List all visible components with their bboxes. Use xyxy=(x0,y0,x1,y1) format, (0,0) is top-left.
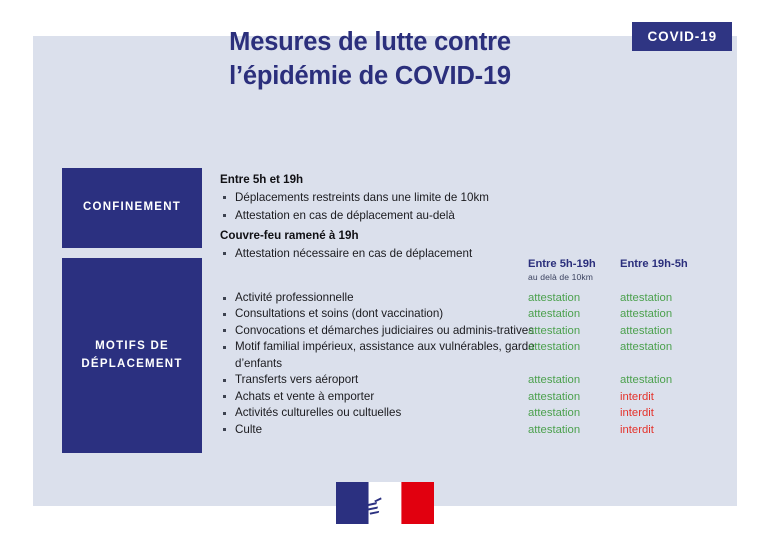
table-row: Culteattestationinterdit xyxy=(220,422,710,438)
motif-label: Motif familial impérieux, assistance aux… xyxy=(220,339,535,372)
table-row: Transferts vers aéroportattestationattes… xyxy=(220,372,710,388)
column-header-nighttime: Entre 19h-5h xyxy=(620,258,688,270)
status-badge-nighttime: attestation xyxy=(620,306,672,322)
motifs-column-headers: Entre 5h-19h au delà de 10km Entre 19h-5… xyxy=(220,258,710,290)
status-badge-daytime: attestation xyxy=(528,290,580,306)
table-row: Convocations et démarches judiciaires ou… xyxy=(220,323,710,339)
list-item: Attestation en cas de déplacement au-del… xyxy=(220,208,550,225)
table-row: Motif familial impérieux, assistance aux… xyxy=(220,339,710,372)
section-label-confinement-text: CONFINEMENT xyxy=(83,199,181,216)
table-row: Achats et vente à emporterattestationint… xyxy=(220,389,710,405)
motif-label: Activités culturelles ou cultuelles xyxy=(220,405,535,421)
status-badge-daytime: attestation xyxy=(528,323,580,339)
status-badge-nighttime: attestation xyxy=(620,372,672,388)
motif-label: Culte xyxy=(220,422,535,438)
section-label-confinement: CONFINEMENT xyxy=(62,168,202,248)
status-badge-daytime: attestation xyxy=(528,339,580,355)
infographic-root: Mesures de lutte contre l’épidémie de CO… xyxy=(0,0,770,544)
status-badge-nighttime: interdit xyxy=(620,405,654,421)
page-title-line-1: Mesures de lutte contre xyxy=(150,26,590,60)
column-header-daytime-subtitle: au delà de 10km xyxy=(528,272,596,282)
section-label-motifs-text: MOTIFS DE DÉPLACEMENT xyxy=(81,338,182,373)
status-badge-nighttime: attestation xyxy=(620,323,672,339)
motif-label: Achats et vente à emporter xyxy=(220,389,535,405)
motifs-row-list: Activité professionnelleattestationattes… xyxy=(220,290,710,438)
section-label-motifs-line-2: DÉPLACEMENT xyxy=(81,356,182,373)
section-label-motifs-line-1: MOTIFS DE xyxy=(81,338,182,355)
section-label-motifs-de-deplacement: MOTIFS DE DÉPLACEMENT xyxy=(62,258,202,453)
confinement-bullets-daytime: Déplacements restreints dans une limite … xyxy=(220,190,550,225)
status-badge-daytime: attestation xyxy=(528,422,580,438)
page-title-line-2: l’épidémie de COVID-19 xyxy=(150,60,590,94)
confinement-subhead-curfew: Couvre-feu ramené à 19h xyxy=(220,228,550,245)
status-badge-nighttime: attestation xyxy=(620,339,672,355)
table-row: Activité professionnelleattestationattes… xyxy=(220,290,710,306)
status-badge-daytime: attestation xyxy=(528,372,580,388)
confinement-subhead-daytime: Entre 5h et 19h xyxy=(220,172,550,189)
status-badge-daytime: attestation xyxy=(528,405,580,421)
motif-label: Consultations et soins (dont vaccination… xyxy=(220,306,535,322)
motifs-table: Entre 5h-19h au delà de 10km Entre 19h-5… xyxy=(220,258,710,438)
french-republic-marianne-flag-logo xyxy=(336,482,434,524)
status-badge-daytime: attestation xyxy=(528,306,580,322)
table-row: Consultations et soins (dont vaccination… xyxy=(220,306,710,322)
page-title: Mesures de lutte contre l’épidémie de CO… xyxy=(150,26,590,93)
covid-19-badge: COVID-19 xyxy=(632,22,732,51)
column-header-nighttime-title: Entre 19h-5h xyxy=(620,258,688,270)
list-item: Déplacements restreints dans une limite … xyxy=(220,190,550,207)
table-row: Activités culturelles ou cultuellesattes… xyxy=(220,405,710,421)
status-badge-nighttime: interdit xyxy=(620,422,654,438)
confinement-content: Entre 5h et 19h Déplacements restreints … xyxy=(220,172,550,264)
status-badge-daytime: attestation xyxy=(528,389,580,405)
column-header-daytime-title: Entre 5h-19h xyxy=(528,258,596,270)
column-header-daytime: Entre 5h-19h au delà de 10km xyxy=(528,258,596,282)
status-badge-nighttime: interdit xyxy=(620,389,654,405)
motif-label: Convocations et démarches judiciaires ou… xyxy=(220,323,535,339)
motif-label: Transferts vers aéroport xyxy=(220,372,535,388)
motif-label: Activité professionnelle xyxy=(220,290,535,306)
status-badge-nighttime: attestation xyxy=(620,290,672,306)
